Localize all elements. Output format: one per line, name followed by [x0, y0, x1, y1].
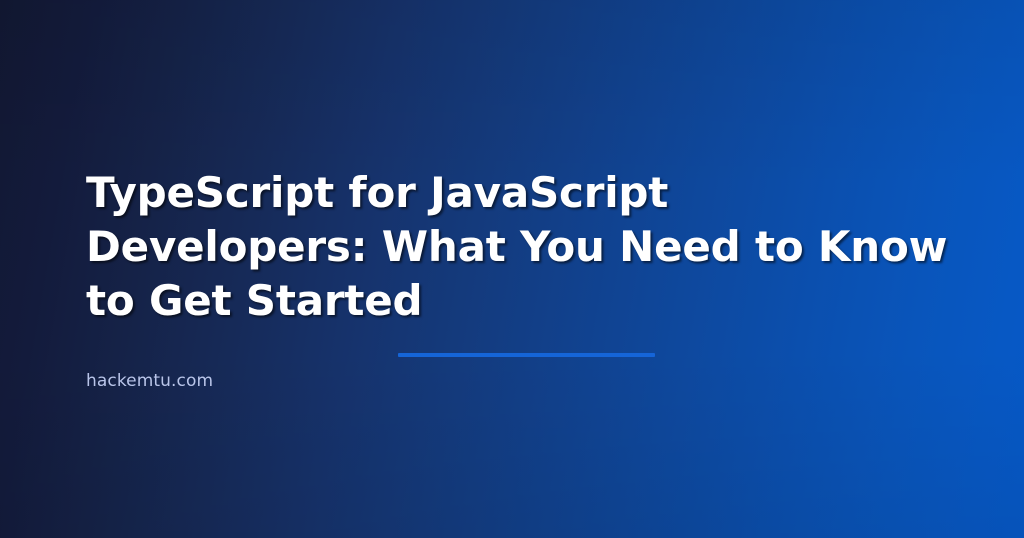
card-content: TypeScript for JavaScript Developers: Wh… [86, 166, 966, 392]
page-title: TypeScript for JavaScript Developers: Wh… [86, 166, 956, 328]
accent-divider [398, 353, 655, 357]
site-domain-label: hackemtu.com [86, 370, 966, 392]
social-share-card: TypeScript for JavaScript Developers: Wh… [0, 0, 1024, 538]
